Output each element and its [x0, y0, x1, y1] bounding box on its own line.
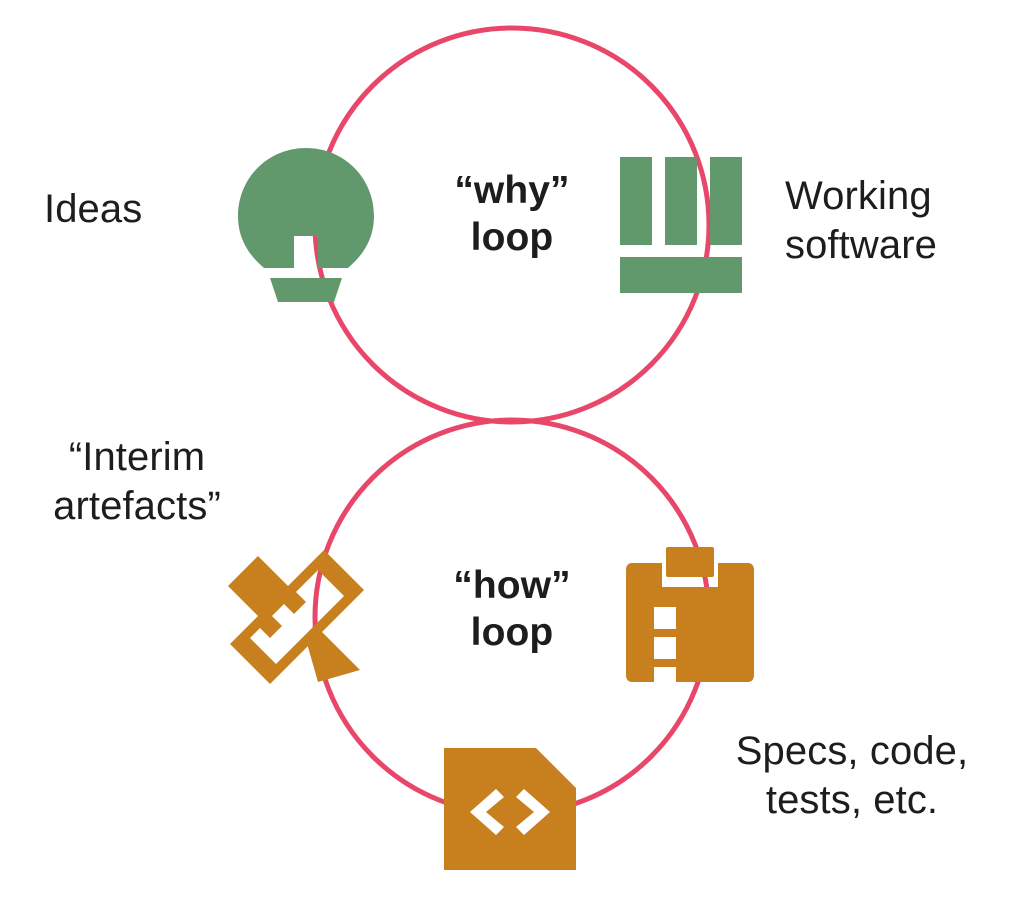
- code-document-icon: [440, 744, 580, 874]
- caption-why-loop: “why” loop: [412, 168, 612, 262]
- label-interim-artefacts: “Interim artefacts”: [22, 433, 252, 531]
- label-ideas: Ideas: [44, 185, 142, 234]
- bar-chart-icon: [618, 155, 744, 295]
- clipboard-icon: [624, 545, 756, 685]
- lightbulb-icon: [232, 144, 380, 306]
- ruler-pencil-icon: [222, 542, 372, 687]
- caption-how-loop: “how” loop: [412, 563, 612, 657]
- diagram-canvas: Ideas Working software “Interim artefact…: [0, 0, 1024, 923]
- label-specs-code-tests: Specs, code, tests, etc.: [707, 727, 997, 825]
- label-working-software: Working software: [785, 172, 937, 270]
